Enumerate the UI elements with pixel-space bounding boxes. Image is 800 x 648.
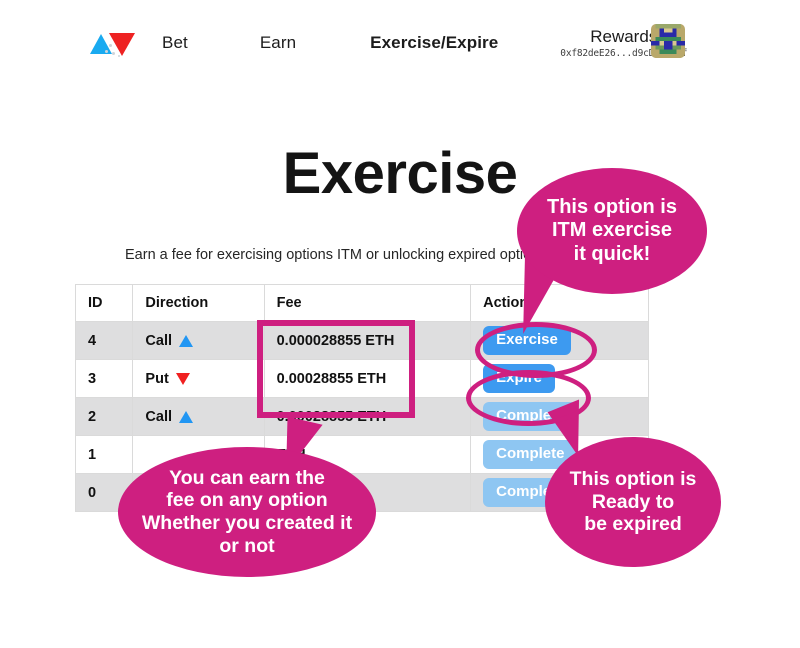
nav-item-earn[interactable]: Earn [260,33,296,53]
callout-earn-fee: You can earn the fee on any option Wheth… [118,447,376,577]
logo-dot [112,52,115,55]
app-logo-icon[interactable] [88,28,140,58]
cell-direction: Put [133,360,264,398]
direction-label: Call [145,409,172,425]
logo-dot [118,55,120,57]
column-header-fee: Fee [264,285,471,322]
callout-itm-line2: ITM exercise [537,219,687,242]
page-subtitle: Earn a fee for exercising options ITM or… [125,247,547,263]
callout-earn-line3: Whether you created it [132,512,362,535]
call-up-arrow-icon [179,335,193,347]
highlight-ellipse-expire-button [466,370,591,426]
callout-itm-line1: This option is [537,196,687,219]
nav-item-exercise-expire[interactable]: Exercise/Expire [370,33,498,53]
callout-ready-line3: be expired [560,513,707,536]
callout-itm-line3: it quick! [537,243,687,266]
highlight-rect-fee-column [257,320,415,418]
call-up-arrow-icon [179,411,193,423]
nav-item-bet[interactable]: Bet [162,33,188,53]
nav-item-rewards[interactable]: Rewards [590,27,657,47]
callout-earn-line4: or not [132,535,362,558]
column-header-direction: Direction [133,285,264,322]
cell-id: 3 [76,360,133,398]
cell-id: 2 [76,398,133,436]
callout-earn-line2: fee on any option [132,489,362,512]
column-header-id: ID [76,285,133,322]
logo-dot [105,50,108,53]
direction-label: Call [145,333,172,349]
cell-direction: Call [133,322,264,360]
navbar: Bet Earn Exercise/Expire Rewards 0xf82de… [0,0,800,86]
account-area[interactable]: Rewards 0xf82deE26...d9cD8616Af [560,27,685,59]
callout-itm-exercise: This option is ITM exercise it quick! [517,168,707,294]
callout-earn-line1: You can earn the [132,467,362,490]
cell-id: 1 [76,436,133,474]
logo-dot [109,44,112,47]
cell-direction: Call [133,398,264,436]
callout-ready-line1: This option is [560,468,707,491]
callout-ready-line2: Ready to [560,491,707,514]
callout-ready-expired: This option is Ready to be expired [545,437,721,567]
direction-label: Put [145,371,168,387]
cell-id: 4 [76,322,133,360]
put-down-arrow-icon [176,373,190,385]
identicon-avatar[interactable] [651,24,685,58]
